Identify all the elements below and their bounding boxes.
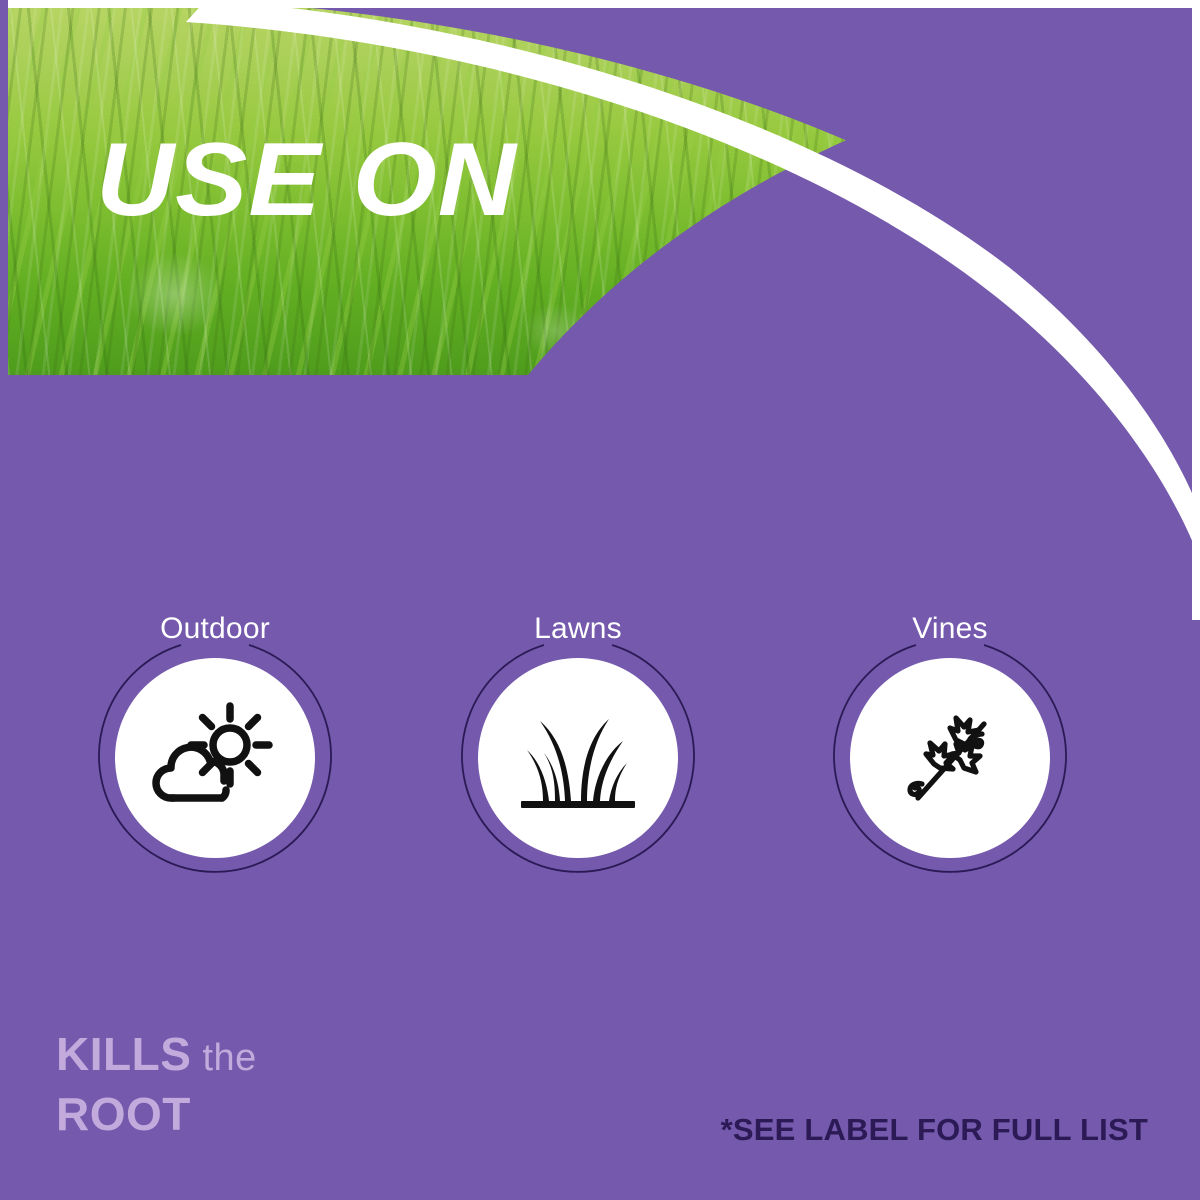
badge-label-lawns: Lawns — [453, 612, 703, 646]
tagline-root: ROOT — [56, 1091, 257, 1139]
tagline-block: KILLS the ROOT — [56, 1031, 257, 1139]
grass-icon — [478, 658, 678, 858]
product-infographic: USE ON Outdoor — [0, 0, 1200, 1200]
tagline-kills: KILLS — [56, 1028, 191, 1080]
tagline-the: the — [191, 1037, 256, 1079]
badge-lawns[interactable]: Lawns — [453, 612, 703, 892]
badge-vines[interactable]: Vines — [825, 612, 1075, 892]
footnote-see-label: *SEE LABEL FOR FULL LIST — [721, 1112, 1148, 1148]
tagline-line-1: KILLS the — [56, 1031, 257, 1079]
badge-label-vines: Vines — [825, 612, 1075, 646]
badge-row: Outdoor — [0, 612, 1200, 892]
sun-cloud-icon — [115, 658, 315, 858]
badge-outdoor[interactable]: Outdoor — [90, 612, 340, 892]
badge-label-outdoor: Outdoor — [90, 612, 340, 646]
vine-leaves-icon — [850, 658, 1050, 858]
page-title: USE ON — [96, 128, 517, 232]
